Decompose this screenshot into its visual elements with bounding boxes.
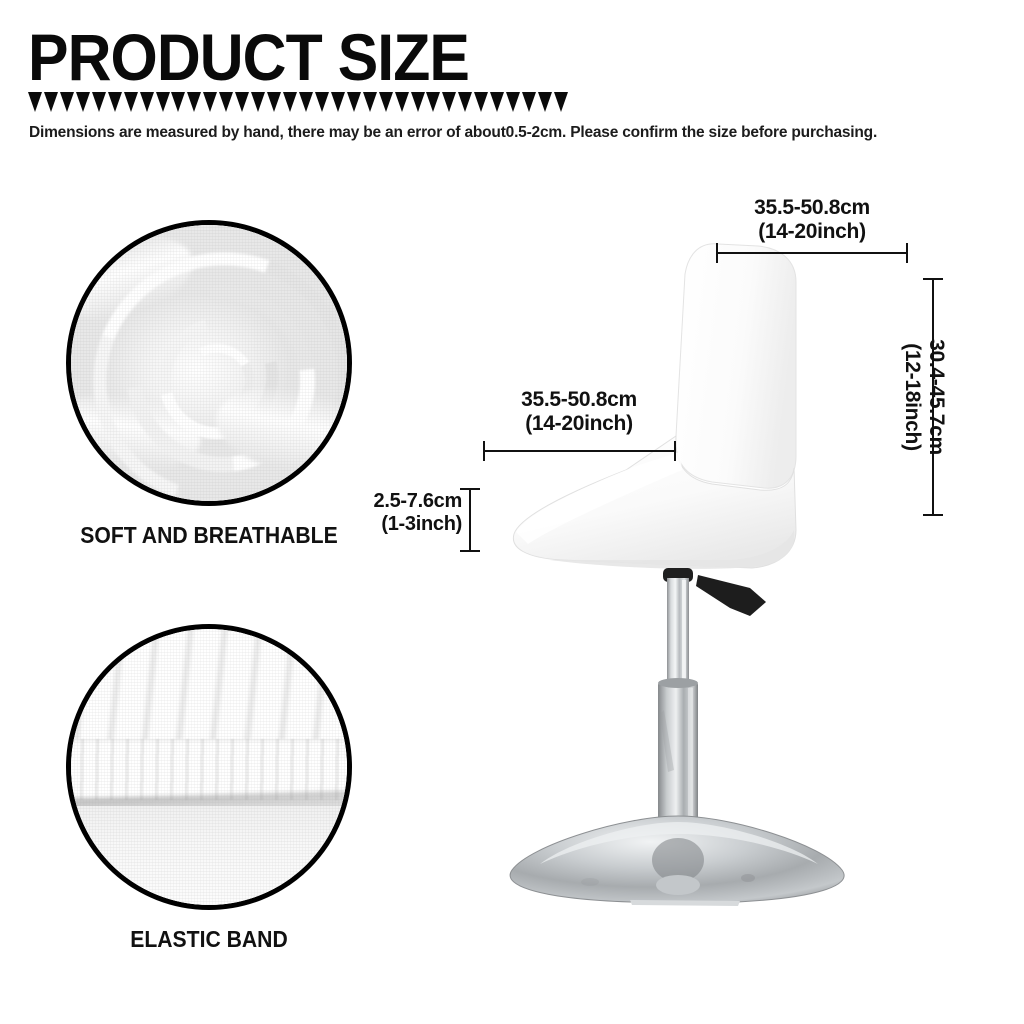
- dimension-value-cm: 30.4-45.7cm: [924, 278, 948, 516]
- feature-soft-and-breathable: SOFT AND BREATHABLE: [66, 220, 352, 549]
- triangle-down-icon: [235, 92, 249, 112]
- dimension-value-inch: (12-18inch): [899, 278, 923, 516]
- chair-backrest: [676, 244, 796, 488]
- triangle-down-icon: [363, 92, 377, 112]
- triangle-down-icon: [474, 92, 488, 112]
- dimension-seat-thickness-label: 2.5-7.6cm (1-3inch): [356, 490, 462, 536]
- fabric-swirl-image: [71, 225, 347, 501]
- triangle-down-icon: [426, 92, 440, 112]
- triangle-down-icon: [187, 92, 201, 112]
- triangle-down-icon: [522, 92, 536, 112]
- triangle-down-icon: [108, 92, 122, 112]
- elastic-band-image: [71, 629, 347, 905]
- fabric-weave-texture: [71, 629, 347, 905]
- chair-product-image: [430, 230, 950, 930]
- page-title: PRODUCT SIZE: [28, 26, 469, 88]
- triangle-down-icon: [92, 92, 106, 112]
- dimension-value-inch: (1-3inch): [356, 513, 462, 536]
- triangle-down-icon: [171, 92, 185, 112]
- triangle-down-icon: [28, 92, 42, 112]
- feature-caption-elastic-band: ELASTIC BAND: [77, 926, 340, 953]
- triangle-down-icon: [315, 92, 329, 112]
- triangle-down-icon: [331, 92, 345, 112]
- triangle-down-icon: [347, 92, 361, 112]
- triangle-down-icon: [203, 92, 217, 112]
- triangle-down-icon: [379, 92, 393, 112]
- dimension-backrest-width: 35.5-50.8cm (14-20inch): [700, 196, 924, 245]
- triangle-down-icon: [490, 92, 504, 112]
- triangle-down-icon: [140, 92, 154, 112]
- triangle-down-icon: [76, 92, 90, 112]
- triangle-down-icon: [251, 92, 265, 112]
- dimension-backrest-height-label: 30.4-45.7cm (12-18inch): [899, 278, 948, 516]
- dimension-value-cm: 2.5-7.6cm: [356, 490, 462, 513]
- dimension-value-inch: (14-20inch): [466, 412, 692, 436]
- triangle-divider: [28, 92, 568, 114]
- dimension-value-cm: 35.5-50.8cm: [466, 388, 692, 412]
- dimension-line-horizontal: [716, 252, 908, 254]
- dimension-backrest-width-label: 35.5-50.8cm (14-20inch): [700, 196, 924, 245]
- triangle-down-icon: [299, 92, 313, 112]
- feature-elastic-band: ELASTIC BAND: [66, 624, 352, 953]
- dimension-line-vertical: [469, 488, 471, 552]
- gas-lift-lever: [696, 575, 766, 616]
- triangle-down-icon: [267, 92, 281, 112]
- triangle-down-icon: [458, 92, 472, 112]
- triangle-down-icon: [44, 92, 58, 112]
- dimension-seat-depth: 35.5-50.8cm (14-20inch): [466, 388, 692, 437]
- triangle-down-icon: [60, 92, 74, 112]
- fabric-weave-texture: [71, 225, 347, 501]
- measurement-disclaimer: Dimensions are measured by hand, there m…: [29, 124, 877, 142]
- triangle-down-icon: [219, 92, 233, 112]
- triangle-down-icon: [506, 92, 520, 112]
- triangle-down-icon: [411, 92, 425, 112]
- triangle-down-icon: [442, 92, 456, 112]
- fabric-swatch-circle: [66, 220, 352, 506]
- triangle-down-icon: [283, 92, 297, 112]
- dimension-seat-depth-label: 35.5-50.8cm (14-20inch): [466, 388, 692, 437]
- triangle-down-icon: [124, 92, 138, 112]
- triangle-down-icon: [395, 92, 409, 112]
- triangle-down-icon: [538, 92, 552, 112]
- dimension-value-inch: (14-20inch): [700, 220, 924, 244]
- product-size-infographic: PRODUCT SIZE Dimensions are measured by …: [0, 0, 1024, 1024]
- triangle-down-icon: [156, 92, 170, 112]
- triangle-down-icon: [554, 92, 568, 112]
- feature-caption-soft-and-breathable: SOFT AND BREATHABLE: [77, 522, 340, 549]
- elastic-swatch-circle: [66, 624, 352, 910]
- dimension-value-cm: 35.5-50.8cm: [700, 196, 924, 220]
- dimension-line-horizontal: [483, 450, 676, 452]
